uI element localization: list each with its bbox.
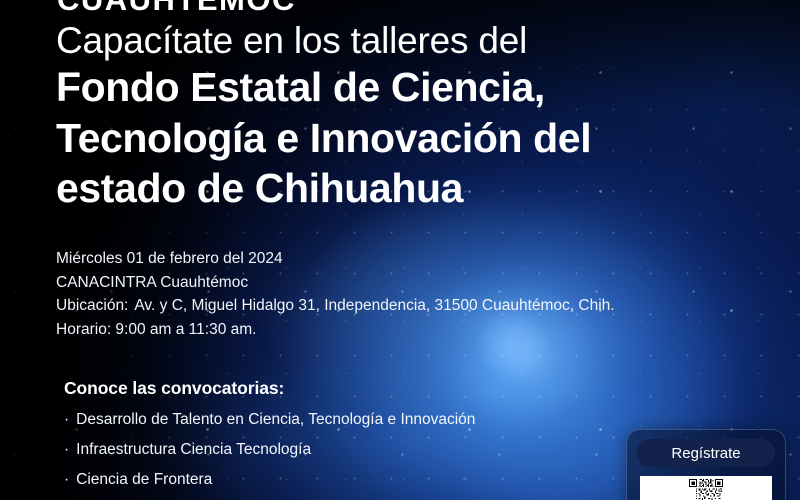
location-label: Ubicación: bbox=[56, 297, 128, 314]
poster-content: CUAUHTÉMOC Capacítate en los talleres de… bbox=[0, 0, 800, 500]
bullet-icon: · bbox=[64, 471, 69, 488]
convocatoria-item-label: Infraestructura Ciencia Tecnología bbox=[76, 441, 311, 458]
headline-subtitle: Capacítate en los talleres del bbox=[56, 20, 756, 62]
headline-line-3: estado de Chihuahua bbox=[56, 163, 756, 214]
headline-line-1: Fondo Estatal de Ciencia, bbox=[56, 62, 756, 113]
event-venue: CANACINTRA Cuauhtémoc bbox=[56, 271, 615, 295]
event-poster: CUAUHTÉMOC Capacítate en los talleres de… bbox=[0, 0, 800, 500]
register-button[interactable]: Regístrate bbox=[637, 439, 775, 467]
convocatoria-item-label: Ciencia de Frontera bbox=[76, 471, 212, 488]
bullet-icon: · bbox=[64, 441, 69, 458]
event-location: Ubicación:Av. y C, Miguel Hidalgo 31, In… bbox=[56, 294, 615, 318]
bullet-icon: · bbox=[64, 411, 69, 428]
convocatorias-title: Conoce las convocatorias: bbox=[64, 378, 475, 399]
convocatoria-item: ·Ciencia de Frontera bbox=[64, 471, 475, 489]
headline-block: Capacítate en los talleres del Fondo Est… bbox=[56, 20, 756, 214]
convocatorias-section: Conoce las convocatorias: ·Desarrollo de… bbox=[64, 378, 475, 500]
convocatoria-item: ·Desarrollo de Talento en Ciencia, Tecno… bbox=[64, 411, 475, 429]
event-details: Miércoles 01 de febrero del 2024 CANACIN… bbox=[56, 247, 615, 342]
event-date: Miércoles 01 de febrero del 2024 bbox=[56, 247, 615, 271]
convocatoria-item-label: Desarrollo de Talento en Ciencia, Tecnol… bbox=[76, 411, 475, 428]
headline-line-2: Tecnología e Innovación del bbox=[56, 113, 756, 164]
convocatoria-item: ·Infraestructura Ciencia Tecnología bbox=[64, 441, 475, 459]
kicker-text: CUAUHTÉMOC bbox=[57, 0, 296, 18]
register-card[interactable]: Regístrate bbox=[626, 429, 786, 500]
event-schedule: Horario: 9:00 am a 11:30 am. bbox=[56, 318, 615, 342]
qr-code-icon[interactable] bbox=[640, 476, 772, 500]
location-value: Av. y C, Miguel Hidalgo 31, Independenci… bbox=[134, 297, 614, 314]
